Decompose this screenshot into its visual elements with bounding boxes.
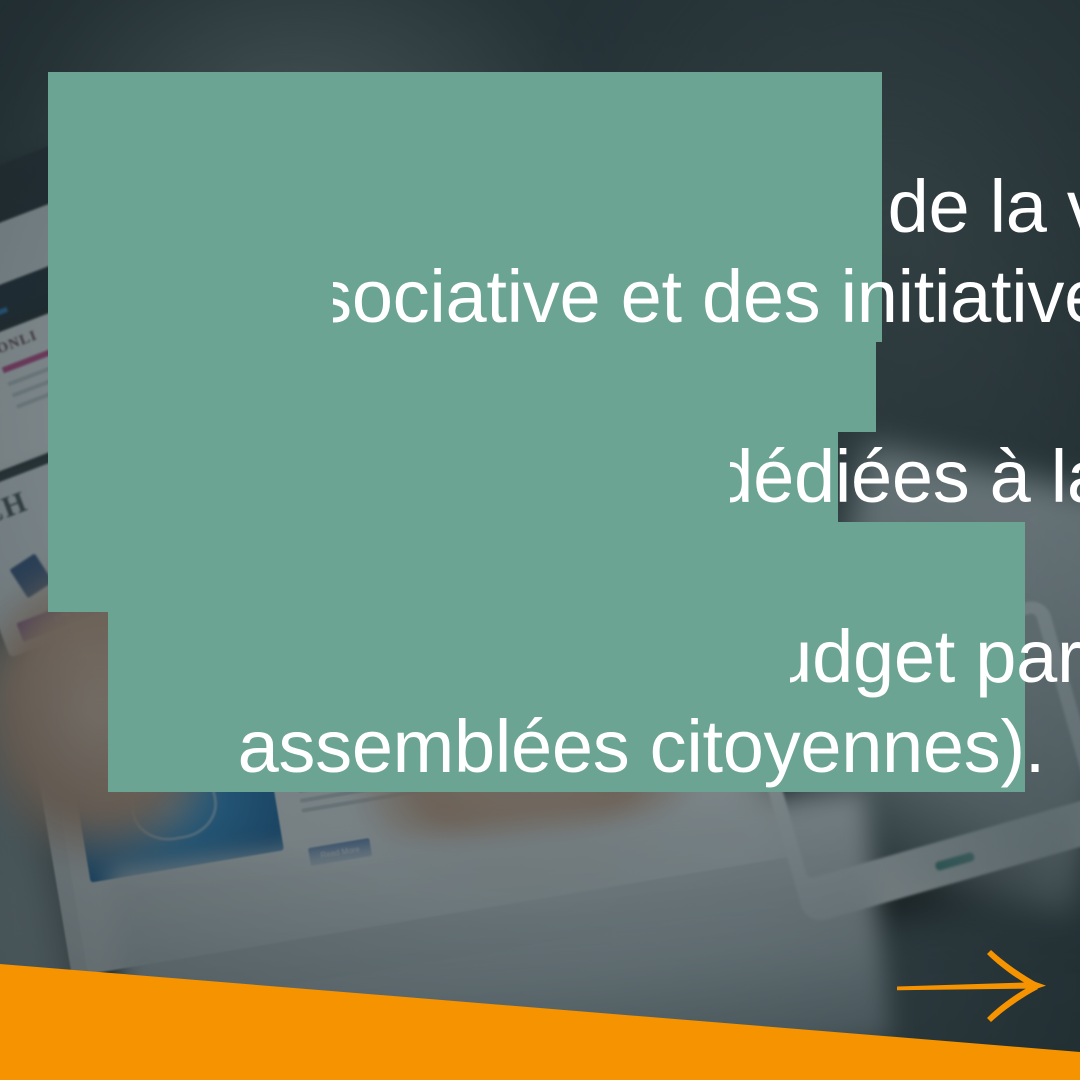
text-line-7: assemblées citoyennes).: [108, 612, 790, 700]
slide-canvas: DS line TECHNO TRAVEL TECHNO ONLI CH: [0, 0, 1080, 1080]
text-line-2-content: associative et des initiatives: [238, 255, 1080, 338]
arrow-right-icon: [880, 938, 1060, 1030]
text-line-7-content: assemblées citoyennes).: [238, 705, 1046, 788]
